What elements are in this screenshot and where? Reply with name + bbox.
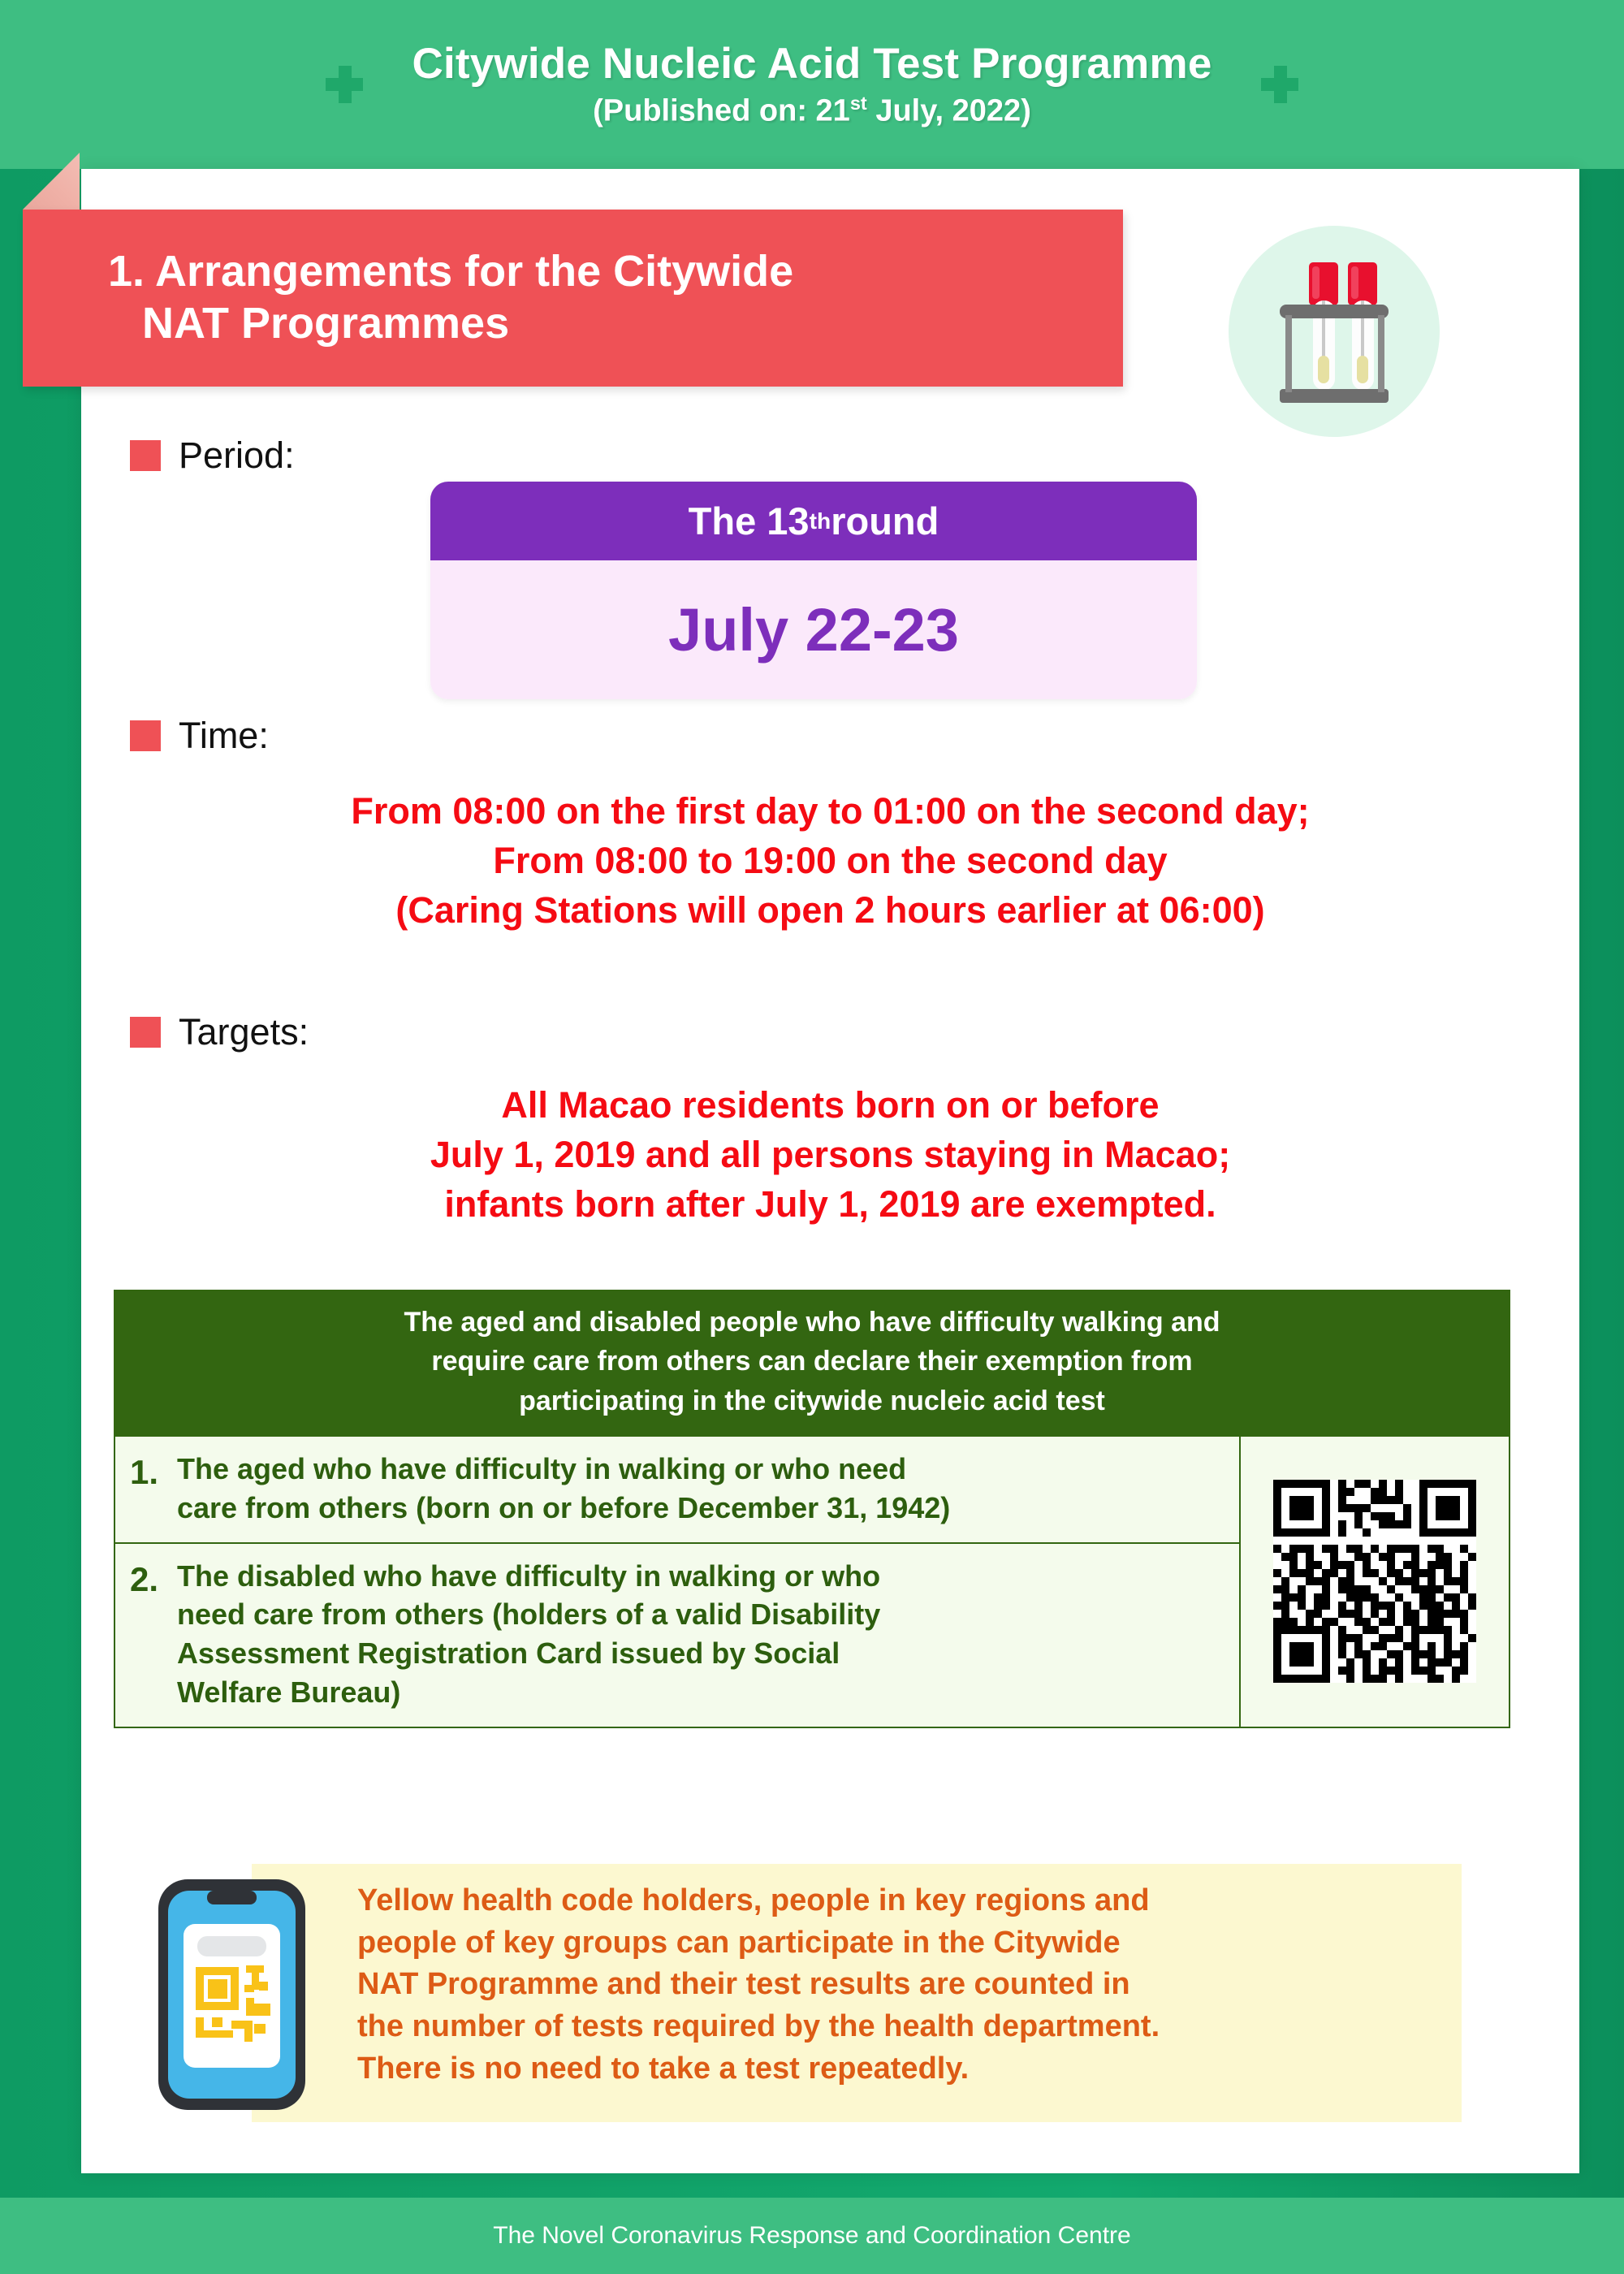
time-section-label: Time:: [130, 715, 269, 757]
period-section-label: Period:: [130, 434, 295, 477]
note-text: Yellow health code holders, people in ke…: [357, 1880, 1462, 2090]
note-line-2: people of key groups can participate in …: [357, 1922, 1462, 1965]
published-date: (Published on: 21st July, 2022): [412, 93, 1212, 129]
bullet-square-icon: [130, 720, 161, 751]
smartphone-health-code-icon: [157, 1878, 307, 2112]
exemption-header-line-3: participating in the citywide nucleic ac…: [158, 1381, 1466, 1420]
page-header: Citywide Nucleic Acid Test Programme (Pu…: [0, 0, 1624, 169]
bullet-square-icon: [130, 440, 161, 471]
exemption-header-line-1: The aged and disabled people who have di…: [158, 1303, 1466, 1342]
exemption-table-header: The aged and disabled people who have di…: [114, 1290, 1510, 1437]
targets-line-1: All Macao residents born on or before: [81, 1080, 1579, 1130]
medical-cross-icon-right: [1261, 66, 1298, 103]
time-line-1: From 08:00 on the first day to 01:00 on …: [81, 786, 1579, 836]
note-line-4: the number of tests required by the heal…: [357, 2006, 1462, 2048]
time-details: From 08:00 on the first day to 01:00 on …: [81, 786, 1579, 936]
time-line-3: (Caring Stations will open 2 hours earli…: [81, 885, 1579, 935]
row-2-line-2: need care from others (holders of a vali…: [177, 1595, 880, 1634]
table-row: 1. The aged who have difficulty in walki…: [115, 1437, 1239, 1542]
footer-text: The Novel Coronavirus Response and Coord…: [493, 2222, 1130, 2250]
targets-section-label: Targets:: [130, 1011, 309, 1053]
bullet-square-icon: [130, 1017, 161, 1048]
round-ordinal: th: [810, 508, 831, 534]
note-line-3: NAT Programme and their test results are…: [357, 1964, 1462, 2006]
targets-line-2: July 1, 2019 and all persons staying in …: [81, 1130, 1579, 1179]
ribbon-line-2: NAT Programmes: [108, 298, 1123, 350]
row-text: The aged who have difficulty in walking …: [177, 1450, 950, 1528]
row-number: 1.: [130, 1450, 177, 1528]
row-2-line-1: The disabled who have difficulty in walk…: [177, 1557, 880, 1596]
time-label: Time:: [179, 715, 269, 757]
round-number-banner: The 13th round: [430, 482, 1197, 560]
round-info-box: The 13th round July 22-23: [430, 482, 1197, 699]
row-number: 2.: [130, 1557, 177, 1713]
qr-code-image[interactable]: [1273, 1480, 1476, 1683]
row-1-line-1: The aged who have difficulty in walking …: [177, 1450, 950, 1489]
section-1-ribbon: 1. Arrangements for the Citywide NAT Pro…: [23, 210, 1123, 387]
note-line-1: Yellow health code holders, people in ke…: [357, 1880, 1462, 1922]
qr-code-cell[interactable]: [1239, 1437, 1509, 1727]
ribbon-line-1: 1. Arrangements for the Citywide: [108, 246, 1123, 298]
targets-line-3: infants born after July 1, 2019 are exem…: [81, 1179, 1579, 1229]
published-suffix: July, 2022): [867, 94, 1031, 128]
row-text: The disabled who have difficulty in walk…: [177, 1557, 880, 1713]
time-line-2: From 08:00 to 19:00 on the second day: [81, 836, 1579, 885]
page-title: Citywide Nucleic Acid Test Programme: [412, 40, 1212, 88]
exemption-header-line-2: require care from others can declare the…: [158, 1342, 1466, 1381]
published-prefix: (Published on: 21: [593, 94, 850, 128]
published-ordinal: st: [850, 93, 867, 114]
row-2-line-3: Assessment Registration Card issued by S…: [177, 1634, 880, 1673]
targets-details: All Macao residents born on or before Ju…: [81, 1080, 1579, 1230]
row-2-line-4: Welfare Bureau): [177, 1673, 880, 1712]
round-suffix: round: [831, 499, 939, 543]
table-row: 2. The disabled who have difficulty in w…: [115, 1542, 1239, 1727]
page-footer: The Novel Coronavirus Response and Coord…: [0, 2198, 1624, 2274]
period-label: Period:: [179, 434, 295, 477]
exemption-table: The aged and disabled people who have di…: [114, 1290, 1510, 1728]
round-dates: July 22-23: [430, 560, 1197, 699]
row-1-line-2: care from others (born on or before Dece…: [177, 1489, 950, 1528]
targets-label: Targets:: [179, 1011, 309, 1053]
round-prefix: The 13: [689, 499, 810, 543]
medical-cross-icon-left: [326, 66, 363, 103]
note-line-5: There is no need to take a test repeated…: [357, 2048, 1462, 2090]
test-tube-rack-icon: [1229, 226, 1440, 437]
